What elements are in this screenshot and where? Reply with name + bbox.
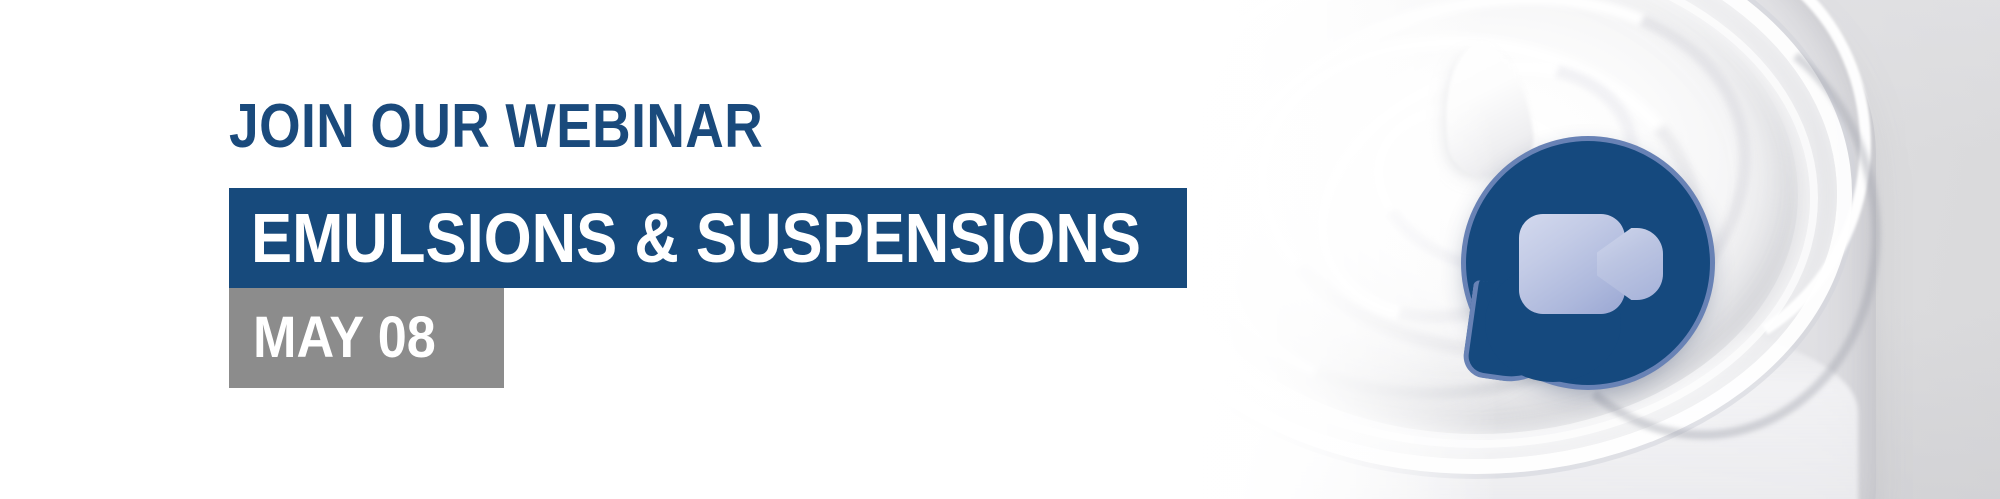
banner-headline: EMULSIONS & SUSPENSIONS (251, 203, 1141, 273)
date-bar: MAY 08 (229, 288, 504, 388)
video-camera-icon (1519, 214, 1669, 314)
banner-copy: JOIN OUR WEBINAR EMULSIONS & SUSPENSIONS… (229, 0, 1219, 499)
banner-date: MAY 08 (253, 309, 436, 367)
banner-eyebrow: JOIN OUR WEBINAR (229, 96, 763, 158)
video-webinar-badge[interactable] (1461, 136, 1723, 398)
speech-bubble-shape (1461, 136, 1715, 390)
webinar-banner: JOIN OUR WEBINAR EMULSIONS & SUSPENSIONS… (0, 0, 2000, 499)
headline-bar: EMULSIONS & SUSPENSIONS (229, 188, 1187, 288)
